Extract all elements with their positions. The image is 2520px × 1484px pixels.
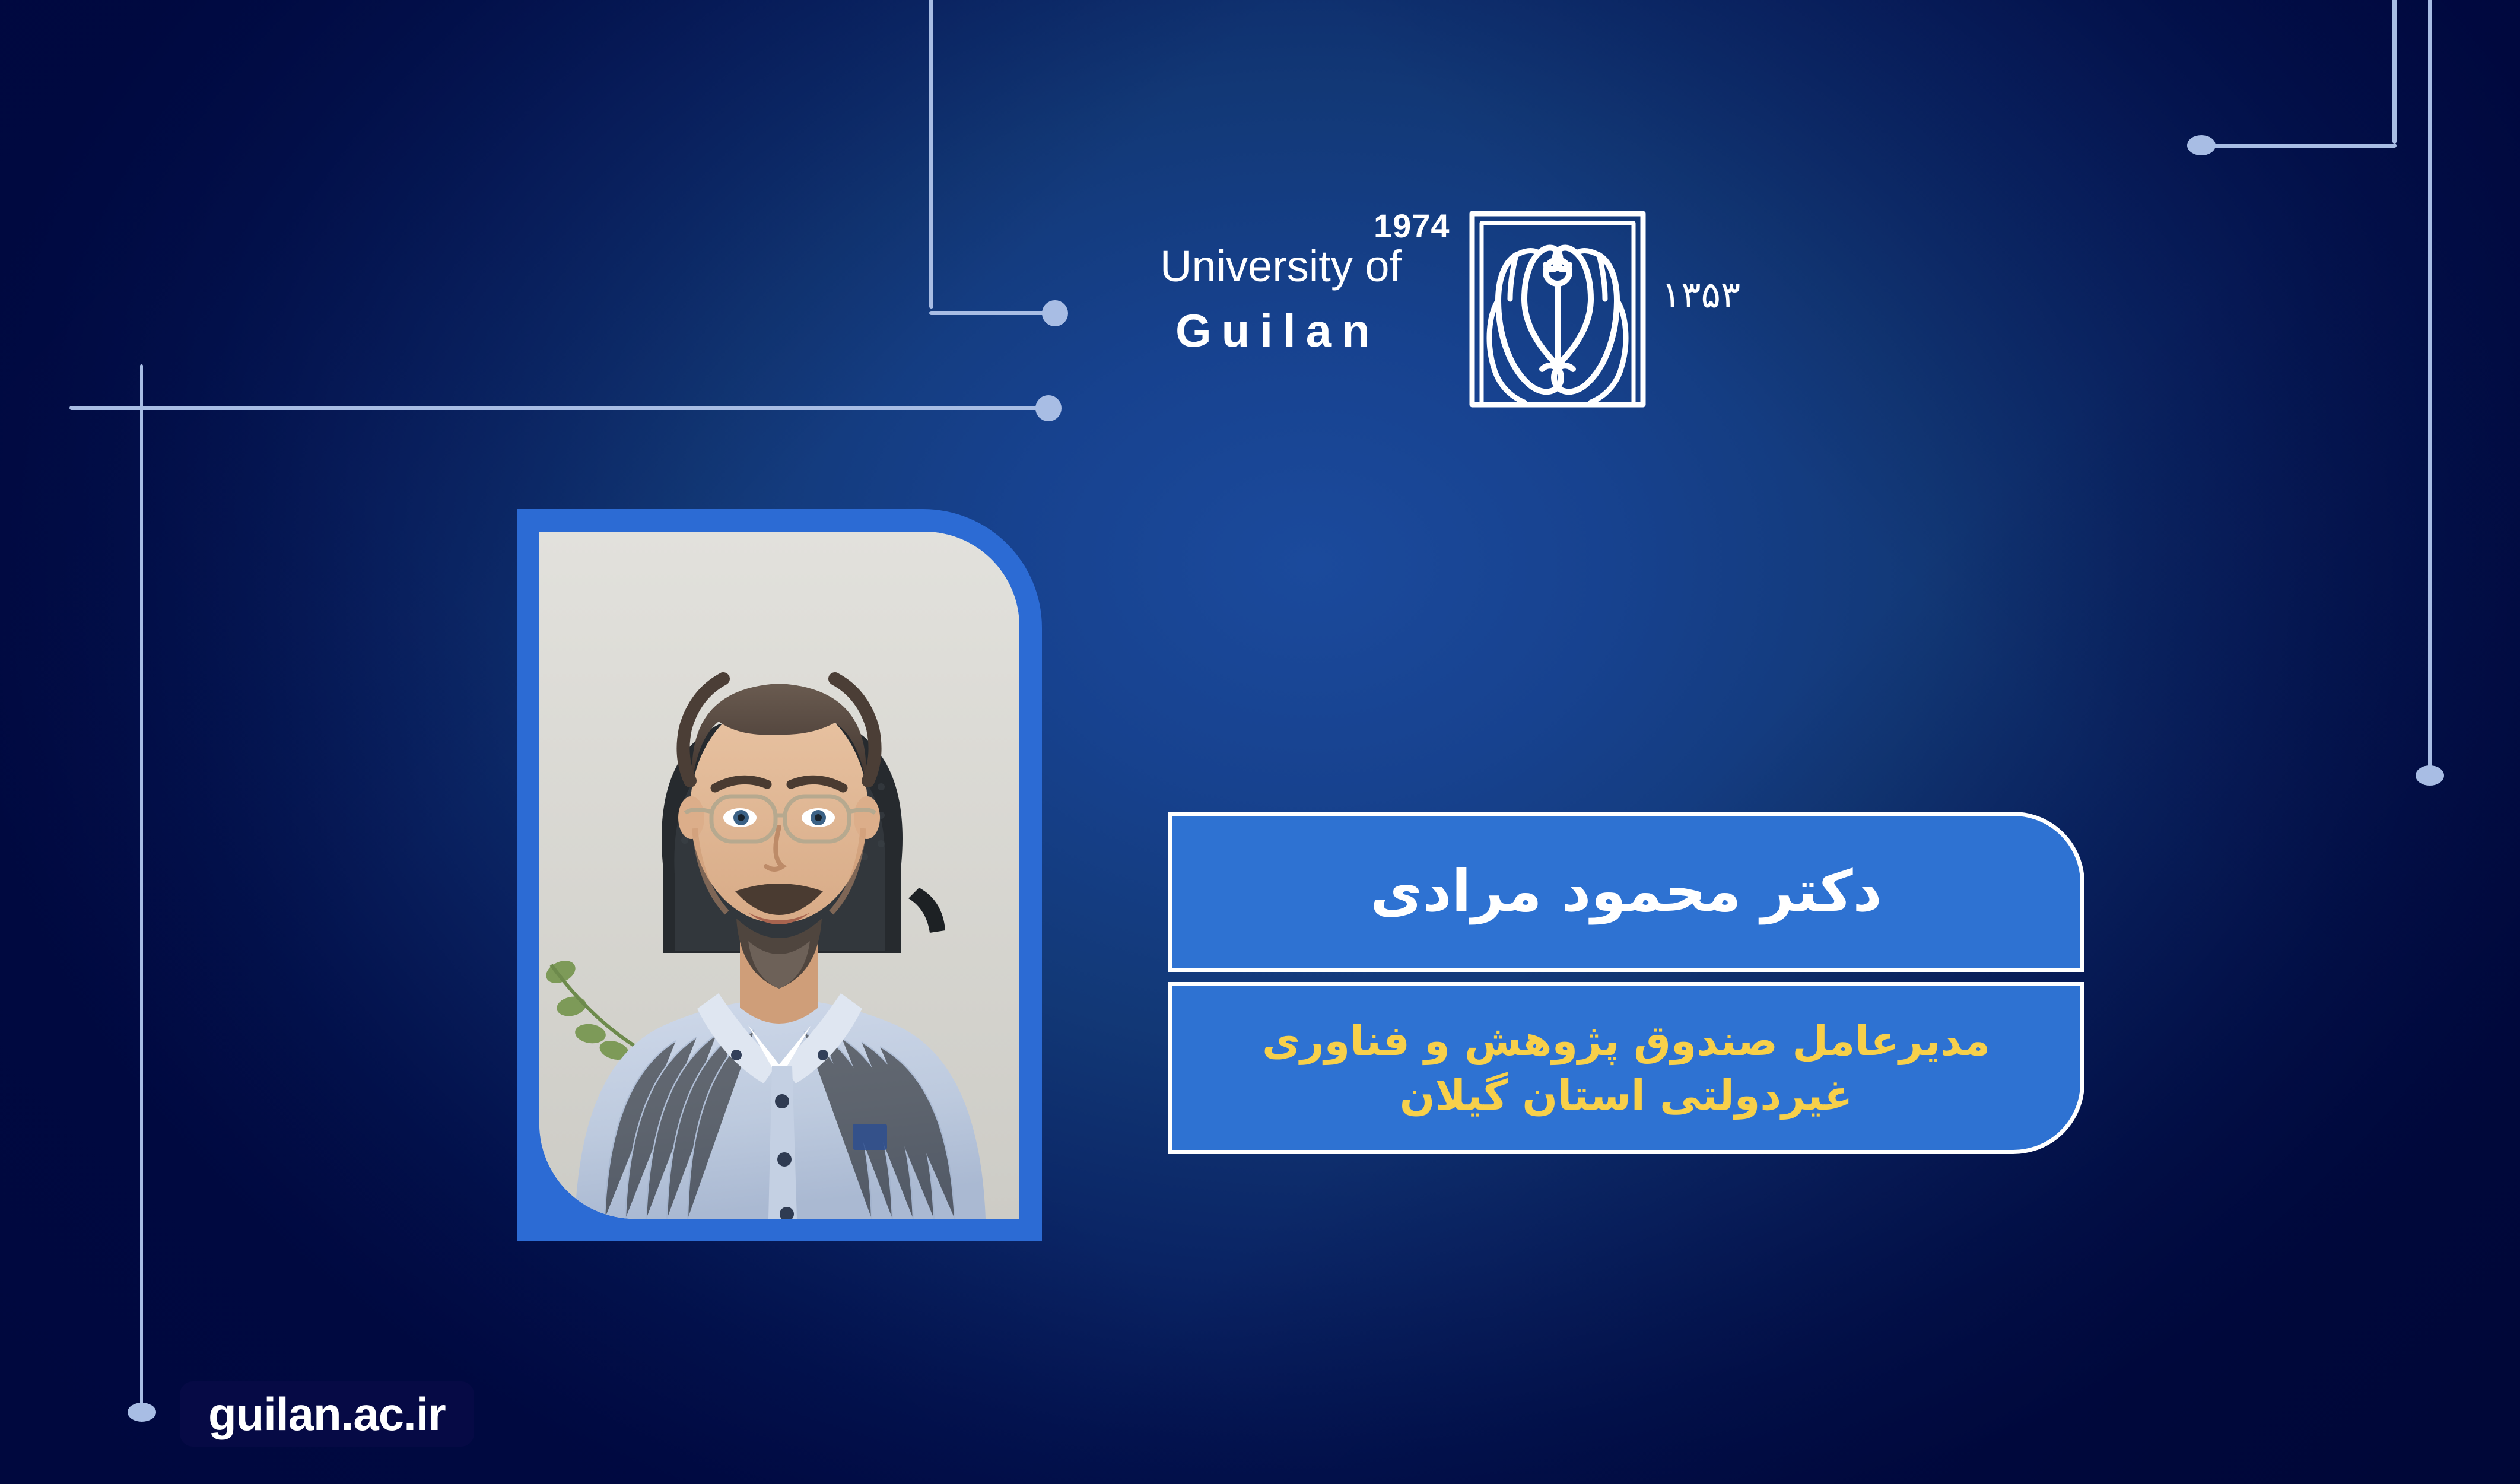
- decor-line-upper-left-horizontal: [69, 406, 1043, 410]
- university-logo-lockup: University of Guilan 1974: [1160, 178, 2086, 398]
- decor-dot-right-upper: [2187, 135, 2216, 155]
- decor-line-right-horizontal: [2200, 144, 2397, 148]
- speaker-role-text: مدیرعامل صندوق پژوهش و فناوری غیردولتی ا…: [1238, 1013, 2014, 1123]
- portrait-frame: [517, 509, 1042, 1241]
- decor-line-top-horizontal: [929, 311, 1055, 315]
- website-url-text: guilan.ac.ir: [208, 1387, 446, 1441]
- decor-dot-upper-left: [1035, 395, 1062, 421]
- banner-stage: University of Guilan 1974: [0, 0, 2520, 1484]
- decor-line-top-vertical: [929, 0, 933, 309]
- decor-line-left-vertical: [140, 364, 143, 1412]
- speaker-role-line1: مدیرعامل صندوق پژوهش و فناوری: [1262, 1013, 1990, 1068]
- decor-dot-right-lower: [2416, 765, 2444, 786]
- speaker-role-banner: مدیرعامل صندوق پژوهش و فناوری غیردولتی ا…: [1168, 982, 2084, 1154]
- logo-persian-name: دانشگاه گیلان: [1718, 190, 2086, 392]
- logo-english-block: University of Guilan: [1160, 244, 1457, 358]
- logo-university-of-label: University of: [1160, 244, 1457, 288]
- speaker-role-line2: غیردولتی استان گیلان: [1262, 1068, 1990, 1123]
- decor-dot-bottom-left: [128, 1403, 156, 1422]
- decor-dot-top: [1042, 300, 1068, 326]
- speaker-name-text: دکتر محمود مرادی: [1370, 860, 1882, 923]
- guilan-university-emblem-icon: [1463, 196, 1653, 409]
- portrait-photo: [539, 532, 1019, 1219]
- svg-text:دانشگاه گیلان: دانشگاه گیلان: [2081, 241, 2086, 352]
- logo-guilan-label: Guilan: [1160, 304, 1457, 358]
- decor-line-right-vertical-upper: [2392, 0, 2397, 144]
- decor-line-right-vertical-lower: [2428, 0, 2432, 773]
- speaker-name-banner: دکتر محمود مرادی: [1168, 812, 2084, 972]
- website-url-badge[interactable]: guilan.ac.ir: [180, 1381, 474, 1447]
- logo-year-gregorian: 1974: [1374, 206, 1450, 245]
